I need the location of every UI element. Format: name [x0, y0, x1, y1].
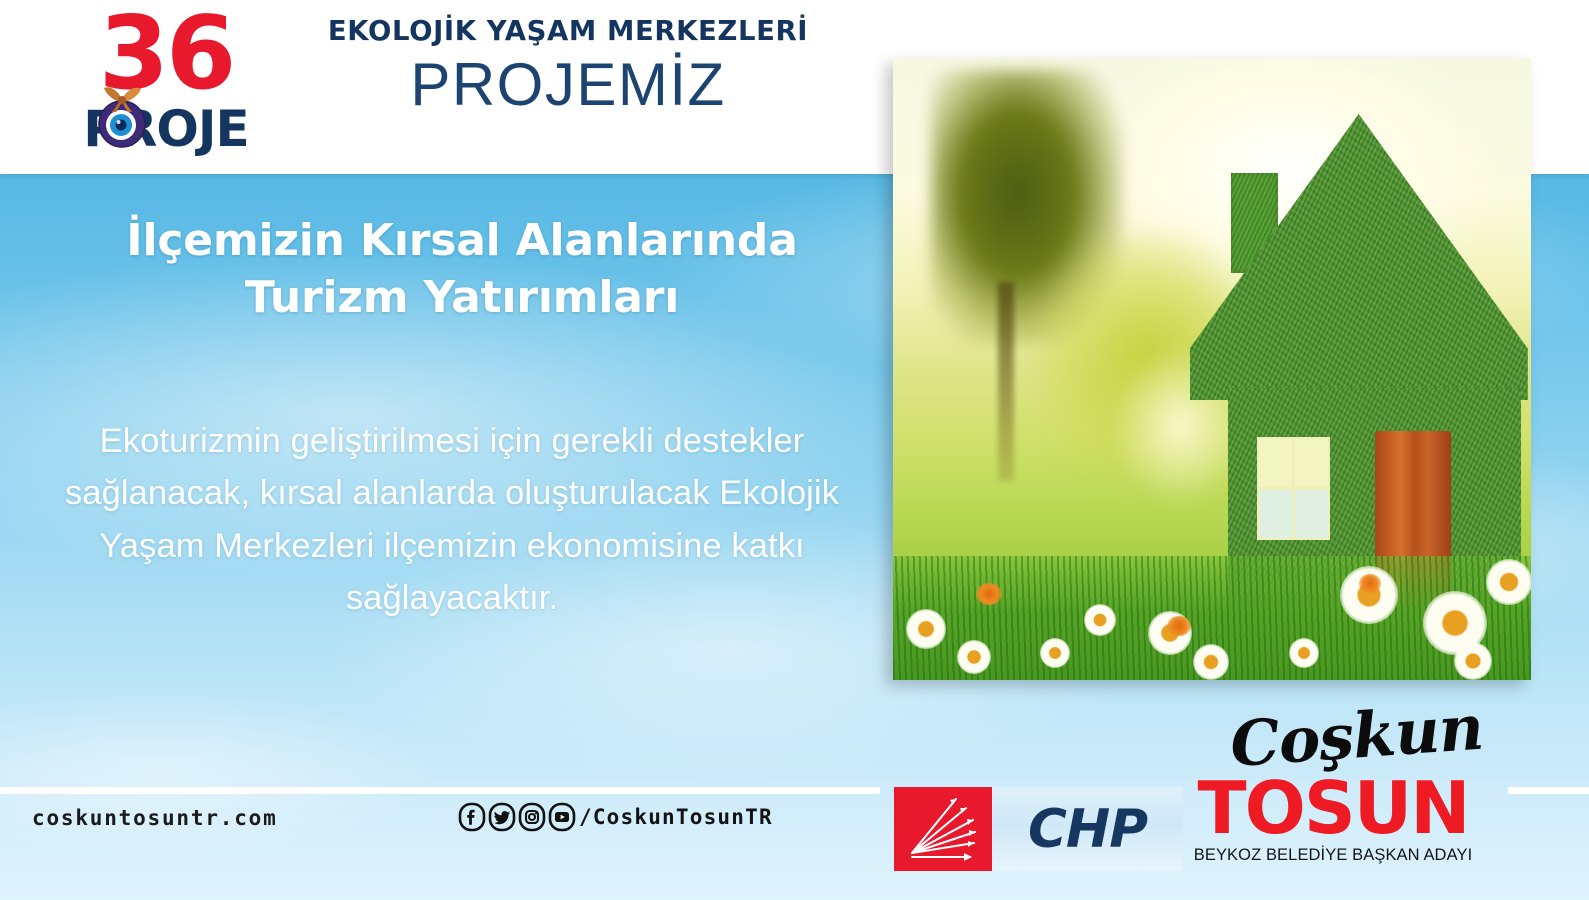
youtube-icon[interactable] — [548, 802, 576, 832]
social-handle[interactable]: /CoskunTosunTR — [579, 805, 773, 829]
headline-line-2: Turizm Yatırımları — [62, 269, 862, 326]
grass-house-photo — [893, 58, 1531, 680]
headline-line-1: İlçemizin Kırsal Alanlarında — [62, 212, 862, 269]
instagram-icon[interactable] — [518, 802, 546, 832]
footer-divider-right — [1508, 787, 1589, 794]
chp-six-arrows-icon — [894, 787, 992, 871]
window-pane — [1295, 490, 1328, 538]
daisy-flower — [1486, 559, 1531, 605]
twitter-icon[interactable] — [488, 802, 516, 832]
daisy-flower — [1289, 638, 1319, 668]
window-pane — [1259, 490, 1292, 538]
website-url[interactable]: coskuntosuntr.com — [32, 806, 278, 830]
chp-name: CHP — [1028, 803, 1147, 856]
facebook-icon[interactable] — [458, 802, 486, 832]
house-window — [1257, 437, 1330, 540]
daisy-flower — [906, 609, 946, 649]
page-title: PROJEMİZ — [268, 50, 868, 121]
photo-tree-trunk — [998, 282, 1013, 481]
daisy-flower — [1040, 638, 1070, 668]
ribbon-icon — [92, 82, 152, 112]
headline: İlçemizin Kırsal Alanlarında Turizm Yatı… — [62, 212, 862, 326]
chp-logo: CHP — [894, 787, 1183, 871]
footer-divider-left — [0, 787, 880, 794]
social-links[interactable]: /CoskunTosunTR — [458, 802, 773, 832]
window-pane — [1259, 439, 1292, 487]
header-eyebrow: EKOLOJİK YAŞAM MERKEZLERİ — [268, 14, 868, 48]
header-titles: EKOLOJİK YAŞAM MERKEZLERİ PROJEMİZ — [268, 14, 868, 121]
candidate-role: BEYKOZ BELEDİYE BAŞKAN ADAYI — [1183, 846, 1483, 865]
campaign-poster: 36 PROJE EKOLOJİK YAŞAM MERKEZLERİ — [0, 0, 1589, 900]
window-pane — [1295, 439, 1328, 487]
candidate-logo: Coşkun TOSUN BEYKOZ BELEDİYE BAŞKAN ADAY… — [1183, 706, 1483, 876]
butterfly — [1359, 574, 1381, 593]
candidate-surname: TOSUN — [1183, 772, 1483, 844]
daisy-flower — [957, 640, 991, 674]
daisy-flower — [1193, 644, 1229, 680]
body-copy: Ekoturizmin geliştirilmesi için gerekli … — [42, 415, 862, 625]
chp-wordmark: CHP — [992, 787, 1183, 871]
candidate-given-name: Coşkun — [1211, 697, 1485, 778]
